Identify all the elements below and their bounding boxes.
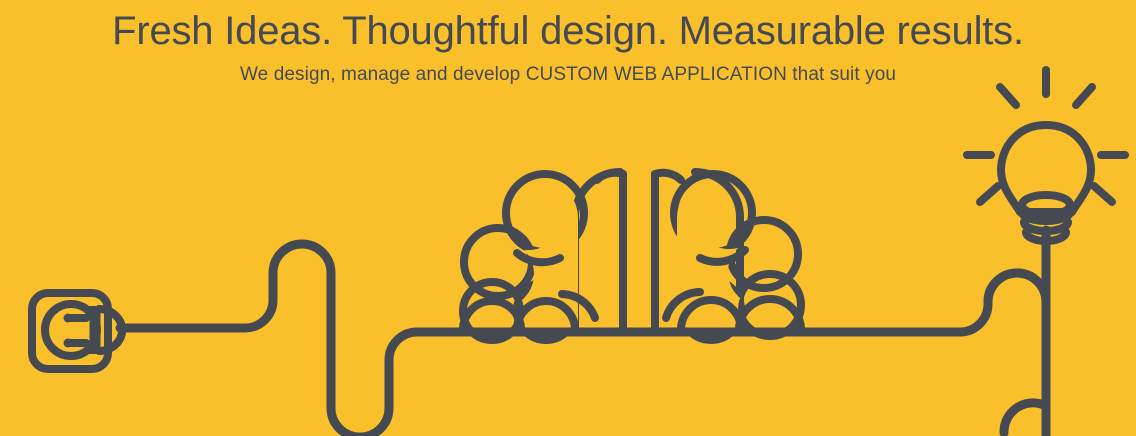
power-outlet-icon — [32, 293, 122, 369]
bulb-thread-2 — [1022, 195, 1070, 215]
bulb-ray-bottom-right — [1094, 186, 1112, 202]
brain-left-hemisphere — [463, 172, 623, 340]
outlet-prong-upper-dot — [64, 314, 73, 323]
outlet-socket-circle — [45, 304, 97, 356]
bulb-ray-top-left — [1000, 87, 1016, 105]
brain-right-hemisphere — [655, 172, 801, 340]
bulb-rays — [967, 70, 1125, 202]
cord-wire — [120, 244, 1046, 436]
cord-wire-bulb-segment — [988, 273, 1046, 433]
outlet-prong-lower-dot — [64, 339, 73, 348]
lightbulb-icon — [967, 70, 1125, 241]
plug-cord-brain-lightbulb-illustration — [0, 0, 1136, 436]
hero-banner: Fresh Ideas. Thoughtful design. Measurab… — [0, 0, 1136, 436]
bulb-ray-bottom-left — [980, 186, 998, 202]
bulb-ray-top-right — [1076, 87, 1092, 105]
brain-left-outline — [575, 172, 620, 332]
